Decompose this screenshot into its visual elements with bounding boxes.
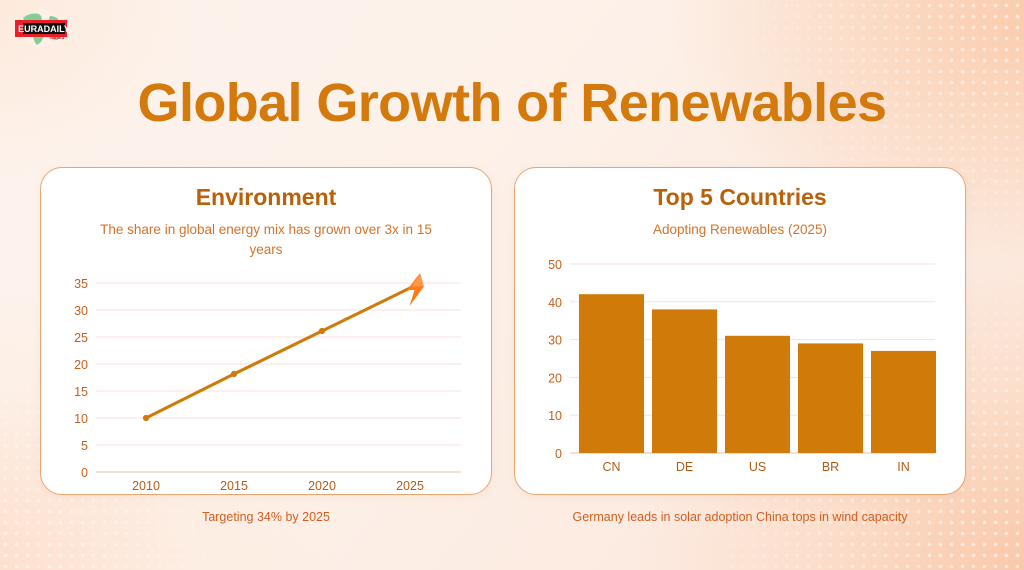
y-tick: 20 bbox=[74, 358, 88, 372]
card-subtitle-environment: The share in global energy mix has grown… bbox=[41, 220, 491, 259]
line-chart-svg: 35 30 25 20 15 10 5 0 bbox=[41, 271, 493, 493]
y-tick: 30 bbox=[548, 333, 562, 347]
logo-artwork: EURADAILY NEWS bbox=[10, 6, 72, 50]
y-tick: 35 bbox=[74, 277, 88, 291]
x-tick: 2010 bbox=[132, 479, 160, 493]
y-tick: 5 bbox=[81, 439, 88, 453]
x-tick: 2020 bbox=[308, 479, 336, 493]
y-tick: 20 bbox=[548, 371, 562, 385]
y-tick: 15 bbox=[74, 385, 88, 399]
bar-series bbox=[579, 294, 936, 453]
y-tick: 50 bbox=[548, 258, 562, 272]
data-point bbox=[143, 415, 149, 421]
bar bbox=[579, 294, 644, 453]
y-tick: 0 bbox=[81, 466, 88, 480]
bar-chart-svg: 50 40 30 20 10 0 CN D bbox=[515, 252, 967, 474]
data-point bbox=[319, 328, 325, 334]
x-tick: DE bbox=[676, 460, 693, 474]
card-subtitle-top-countries: Adopting Renewables (2025) bbox=[515, 220, 965, 240]
logo-wordmark: EURADAILY bbox=[18, 24, 70, 34]
line-series bbox=[143, 288, 410, 421]
x-tick: IN bbox=[897, 460, 910, 474]
logo-subtext: NEWS bbox=[50, 35, 66, 41]
y-tick: 0 bbox=[555, 447, 562, 461]
y-tick: 10 bbox=[548, 409, 562, 423]
card-title-top-countries: Top 5 Countries bbox=[515, 184, 965, 211]
card-title-environment: Environment bbox=[41, 184, 491, 211]
bar bbox=[871, 350, 936, 452]
card-top-countries: Top 5 Countries Adopting Renewables (202… bbox=[514, 167, 966, 495]
gridlines bbox=[96, 283, 461, 472]
x-tick: 2015 bbox=[220, 479, 248, 493]
caption-top-countries: Germany leads in solar adoption China to… bbox=[514, 510, 966, 524]
y-axis-ticks: 50 40 30 20 10 0 bbox=[548, 258, 562, 461]
line-chart: 35 30 25 20 15 10 5 0 bbox=[41, 271, 491, 493]
lightning-bolt-icon bbox=[407, 273, 424, 306]
bar bbox=[652, 309, 717, 453]
y-tick: 25 bbox=[74, 331, 88, 345]
data-point bbox=[231, 371, 237, 377]
x-axis-ticks: CN DE US BR IN bbox=[602, 460, 909, 474]
x-tick: BR bbox=[822, 460, 839, 474]
caption-environment: Targeting 34% by 2025 bbox=[40, 510, 492, 524]
euradaily-news-logo[interactable]: EURADAILY NEWS bbox=[10, 6, 72, 50]
x-axis-ticks: 2010 2015 2020 2025 bbox=[132, 479, 424, 493]
x-tick: 2025 bbox=[396, 479, 424, 493]
y-tick: 10 bbox=[74, 412, 88, 426]
y-tick: 40 bbox=[548, 295, 562, 309]
slide-canvas: EURADAILY NEWS Global Growth of Renewabl… bbox=[0, 0, 1024, 570]
card-environment: Environment The share in global energy m… bbox=[40, 167, 492, 495]
x-tick: US bbox=[749, 460, 766, 474]
y-tick: 30 bbox=[74, 304, 88, 318]
x-tick: CN bbox=[602, 460, 620, 474]
bar-chart: 50 40 30 20 10 0 CN D bbox=[515, 252, 965, 474]
page-title: Global Growth of Renewables bbox=[0, 72, 1024, 134]
bar bbox=[725, 335, 790, 452]
bar bbox=[798, 343, 863, 453]
y-axis-ticks: 35 30 25 20 15 10 5 0 bbox=[74, 277, 88, 480]
